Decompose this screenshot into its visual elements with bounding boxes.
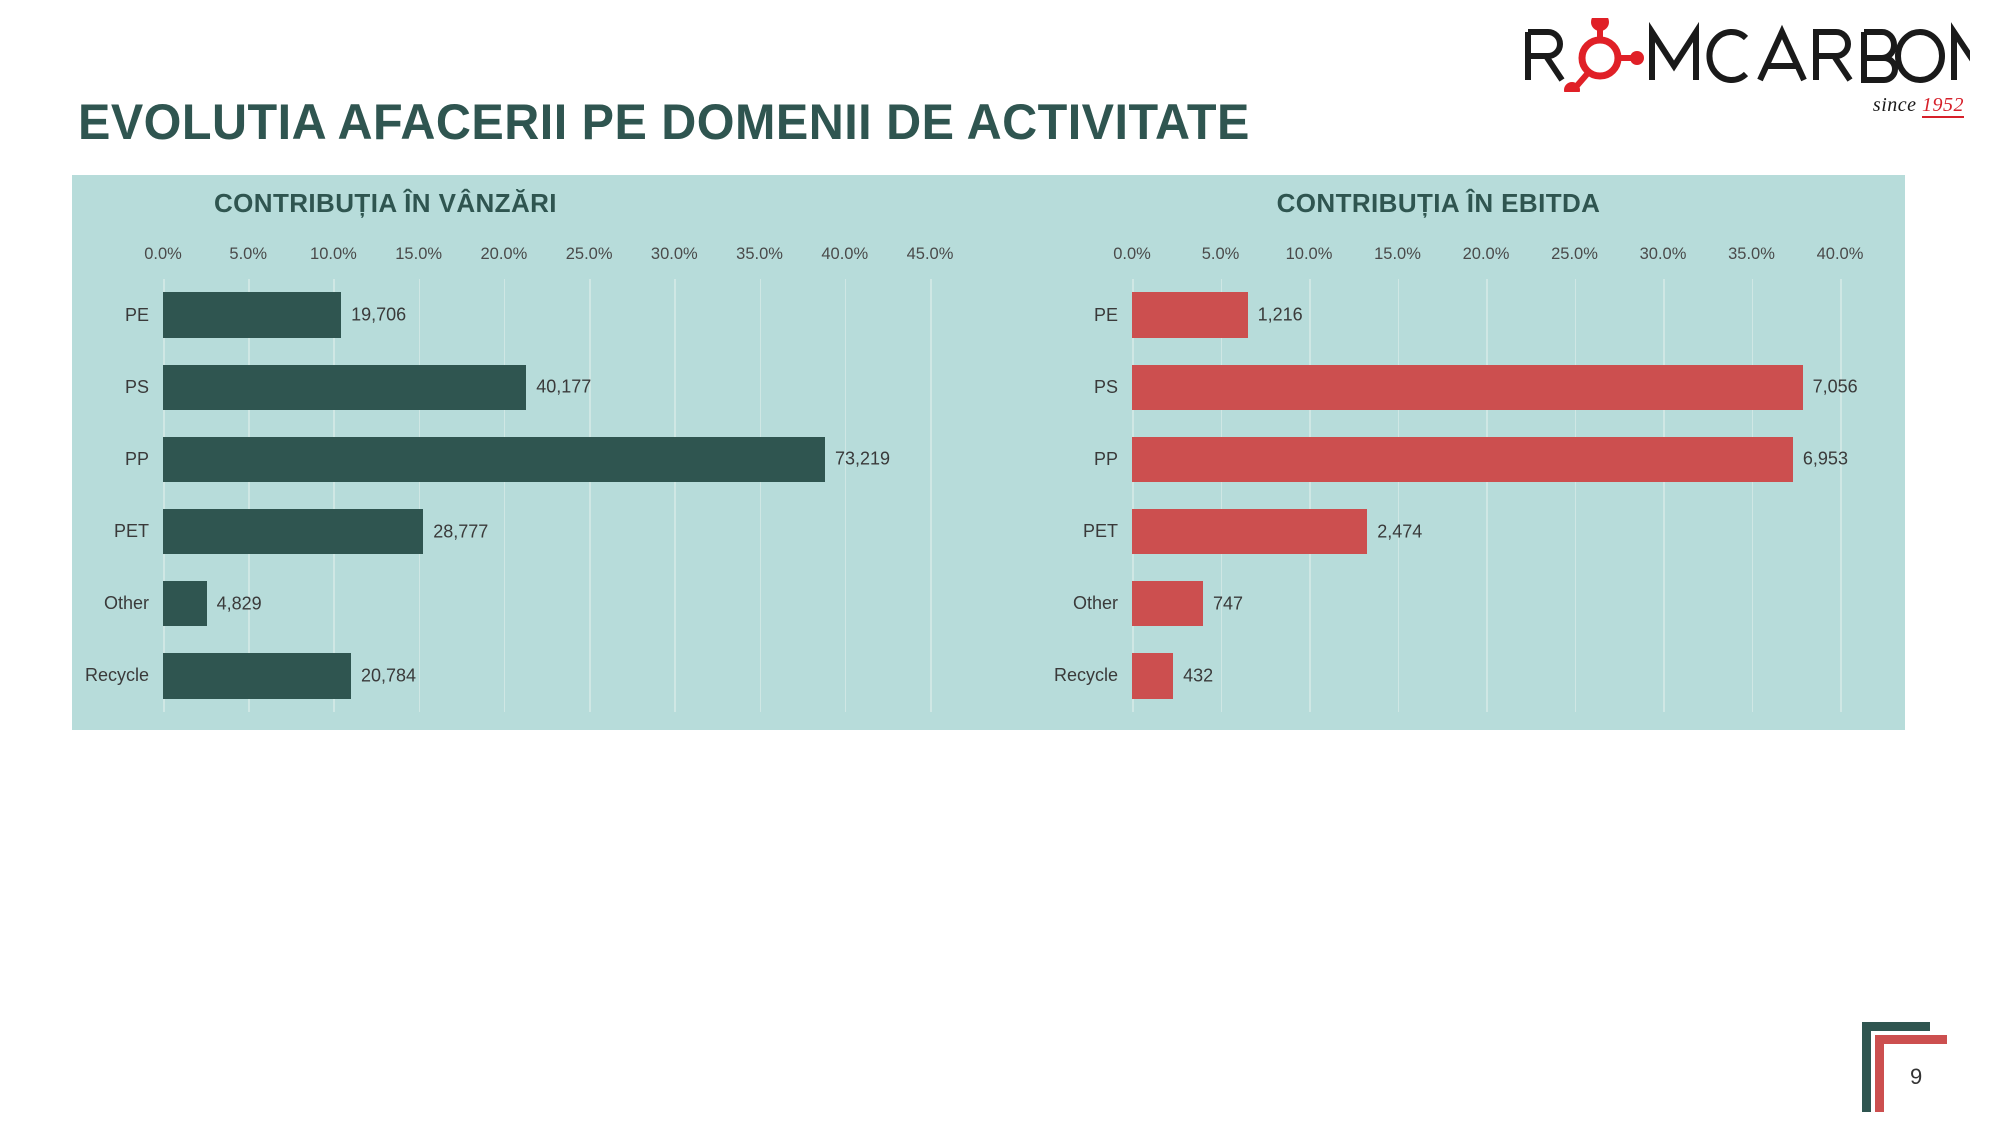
x-tick-label: 0.0% <box>144 245 182 264</box>
since-year: 1952 <box>1922 94 1964 118</box>
x-tick-label: 30.0% <box>1640 245 1687 264</box>
x-tick-label: 15.0% <box>395 245 442 264</box>
bar-row: PE1,216 <box>1132 292 1840 337</box>
bar-ps[interactable] <box>1132 365 1803 410</box>
bar-value-label: 747 <box>1213 593 1243 614</box>
x-tick-label: 10.0% <box>1286 245 1333 264</box>
x-tick-label: 35.0% <box>736 245 783 264</box>
bar-pe[interactable] <box>163 292 341 337</box>
plot-area-ebitda: 0.0%5.0%10.0%15.0%20.0%25.0%30.0%35.0%40… <box>1132 245 1840 712</box>
category-label: PP <box>125 449 149 470</box>
x-tick-label: 25.0% <box>1551 245 1598 264</box>
bar-value-label: 73,219 <box>835 449 890 470</box>
x-tick-label: 35.0% <box>1728 245 1775 264</box>
bar-value-label: 1,216 <box>1258 305 1303 326</box>
category-label: Other <box>104 593 149 614</box>
category-label: PE <box>125 305 149 326</box>
bar-value-label: 432 <box>1183 665 1213 686</box>
x-tick-label: 10.0% <box>310 245 357 264</box>
category-label: PE <box>1094 305 1118 326</box>
x-axis-sales: 0.0%5.0%10.0%15.0%20.0%25.0%30.0%35.0%40… <box>163 245 930 273</box>
category-label: PS <box>1094 377 1118 398</box>
chart-title-sales: CONTRIBUȚIA ÎN VÂNZĂRI <box>214 188 557 219</box>
gridline <box>1840 279 1842 712</box>
gridline <box>930 279 932 712</box>
chart-contributia-in-ebitda: CONTRIBUȚIA ÎN EBITDA 0.0%5.0%10.0%15.0%… <box>972 175 1905 730</box>
bar-pet[interactable] <box>1132 509 1367 554</box>
bar-row: PET28,777 <box>163 509 930 554</box>
molecule-o-icon <box>1564 18 1644 92</box>
x-tick-label: 0.0% <box>1113 245 1151 264</box>
bar-value-label: 40,177 <box>536 377 591 398</box>
bar-pp[interactable] <box>163 437 825 482</box>
x-tick-label: 20.0% <box>1463 245 1510 264</box>
category-label: Recycle <box>1054 665 1118 686</box>
charts-panel: CONTRIBUȚIA ÎN VÂNZĂRI 0.0%5.0%10.0%15.0… <box>72 175 1905 730</box>
chart-title-ebitda: CONTRIBUȚIA ÎN EBITDA <box>972 188 1905 219</box>
chart-contributia-in-vanzari: CONTRIBUȚIA ÎN VÂNZĂRI 0.0%5.0%10.0%15.0… <box>72 175 972 730</box>
x-tick-label: 15.0% <box>1374 245 1421 264</box>
bar-row: PE19,706 <box>163 292 930 337</box>
bar-value-label: 4,829 <box>217 593 262 614</box>
x-axis-ebitda: 0.0%5.0%10.0%15.0%20.0%25.0%30.0%35.0%40… <box>1132 245 1840 273</box>
category-label: PP <box>1094 449 1118 470</box>
bar-row: PS40,177 <box>163 365 930 410</box>
bar-pet[interactable] <box>163 509 423 554</box>
bar-other[interactable] <box>1132 581 1203 626</box>
bar-row: Other747 <box>1132 581 1840 626</box>
bar-ps[interactable] <box>163 365 526 410</box>
bar-value-label: 7,056 <box>1813 377 1858 398</box>
category-label: PET <box>114 521 149 542</box>
bar-value-label: 2,474 <box>1377 521 1422 542</box>
x-tick-label: 30.0% <box>651 245 698 264</box>
x-tick-label: 5.0% <box>1202 245 1240 264</box>
x-tick-label: 40.0% <box>1817 245 1864 264</box>
page-corner-decoration: 9 <box>1862 1022 1970 1112</box>
since-label: since <box>1873 94 1922 116</box>
bar-row: Other4,829 <box>163 581 930 626</box>
logo-wordmark <box>1520 18 1970 92</box>
bar-pe[interactable] <box>1132 292 1248 337</box>
page-number: 9 <box>1910 1064 1922 1090</box>
bar-recycle[interactable] <box>163 653 351 698</box>
bars-ebitda: PE1,216PS7,056PP6,953PET2,474Other747Rec… <box>1132 279 1840 712</box>
bar-value-label: 19,706 <box>351 305 406 326</box>
x-tick-label: 45.0% <box>907 245 954 264</box>
bar-recycle[interactable] <box>1132 653 1173 698</box>
x-tick-label: 5.0% <box>229 245 267 264</box>
bar-row: Recycle432 <box>1132 653 1840 698</box>
bar-row: Recycle20,784 <box>163 653 930 698</box>
category-label: PS <box>125 377 149 398</box>
x-tick-label: 40.0% <box>821 245 868 264</box>
bar-pp[interactable] <box>1132 437 1793 482</box>
bar-row: PS7,056 <box>1132 365 1840 410</box>
bar-value-label: 28,777 <box>433 521 488 542</box>
bar-other[interactable] <box>163 581 207 626</box>
plot-area-sales: 0.0%5.0%10.0%15.0%20.0%25.0%30.0%35.0%40… <box>163 245 930 712</box>
romcarbon-logo: since 1952 <box>1520 18 1970 118</box>
x-tick-label: 20.0% <box>480 245 527 264</box>
bar-value-label: 20,784 <box>361 665 416 686</box>
page-title: EVOLUTIA AFACERII PE DOMENII DE ACTIVITA… <box>78 93 1250 151</box>
bar-value-label: 6,953 <box>1803 449 1848 470</box>
x-tick-label: 25.0% <box>566 245 613 264</box>
category-label: Other <box>1073 593 1118 614</box>
bar-row: PET2,474 <box>1132 509 1840 554</box>
bar-row: PP73,219 <box>163 437 930 482</box>
logo-since-tagline: since 1952 <box>1873 94 1964 117</box>
bars-sales: PE19,706PS40,177PP73,219PET28,777Other4,… <box>163 279 930 712</box>
bar-row: PP6,953 <box>1132 437 1840 482</box>
category-label: Recycle <box>85 665 149 686</box>
category-label: PET <box>1083 521 1118 542</box>
